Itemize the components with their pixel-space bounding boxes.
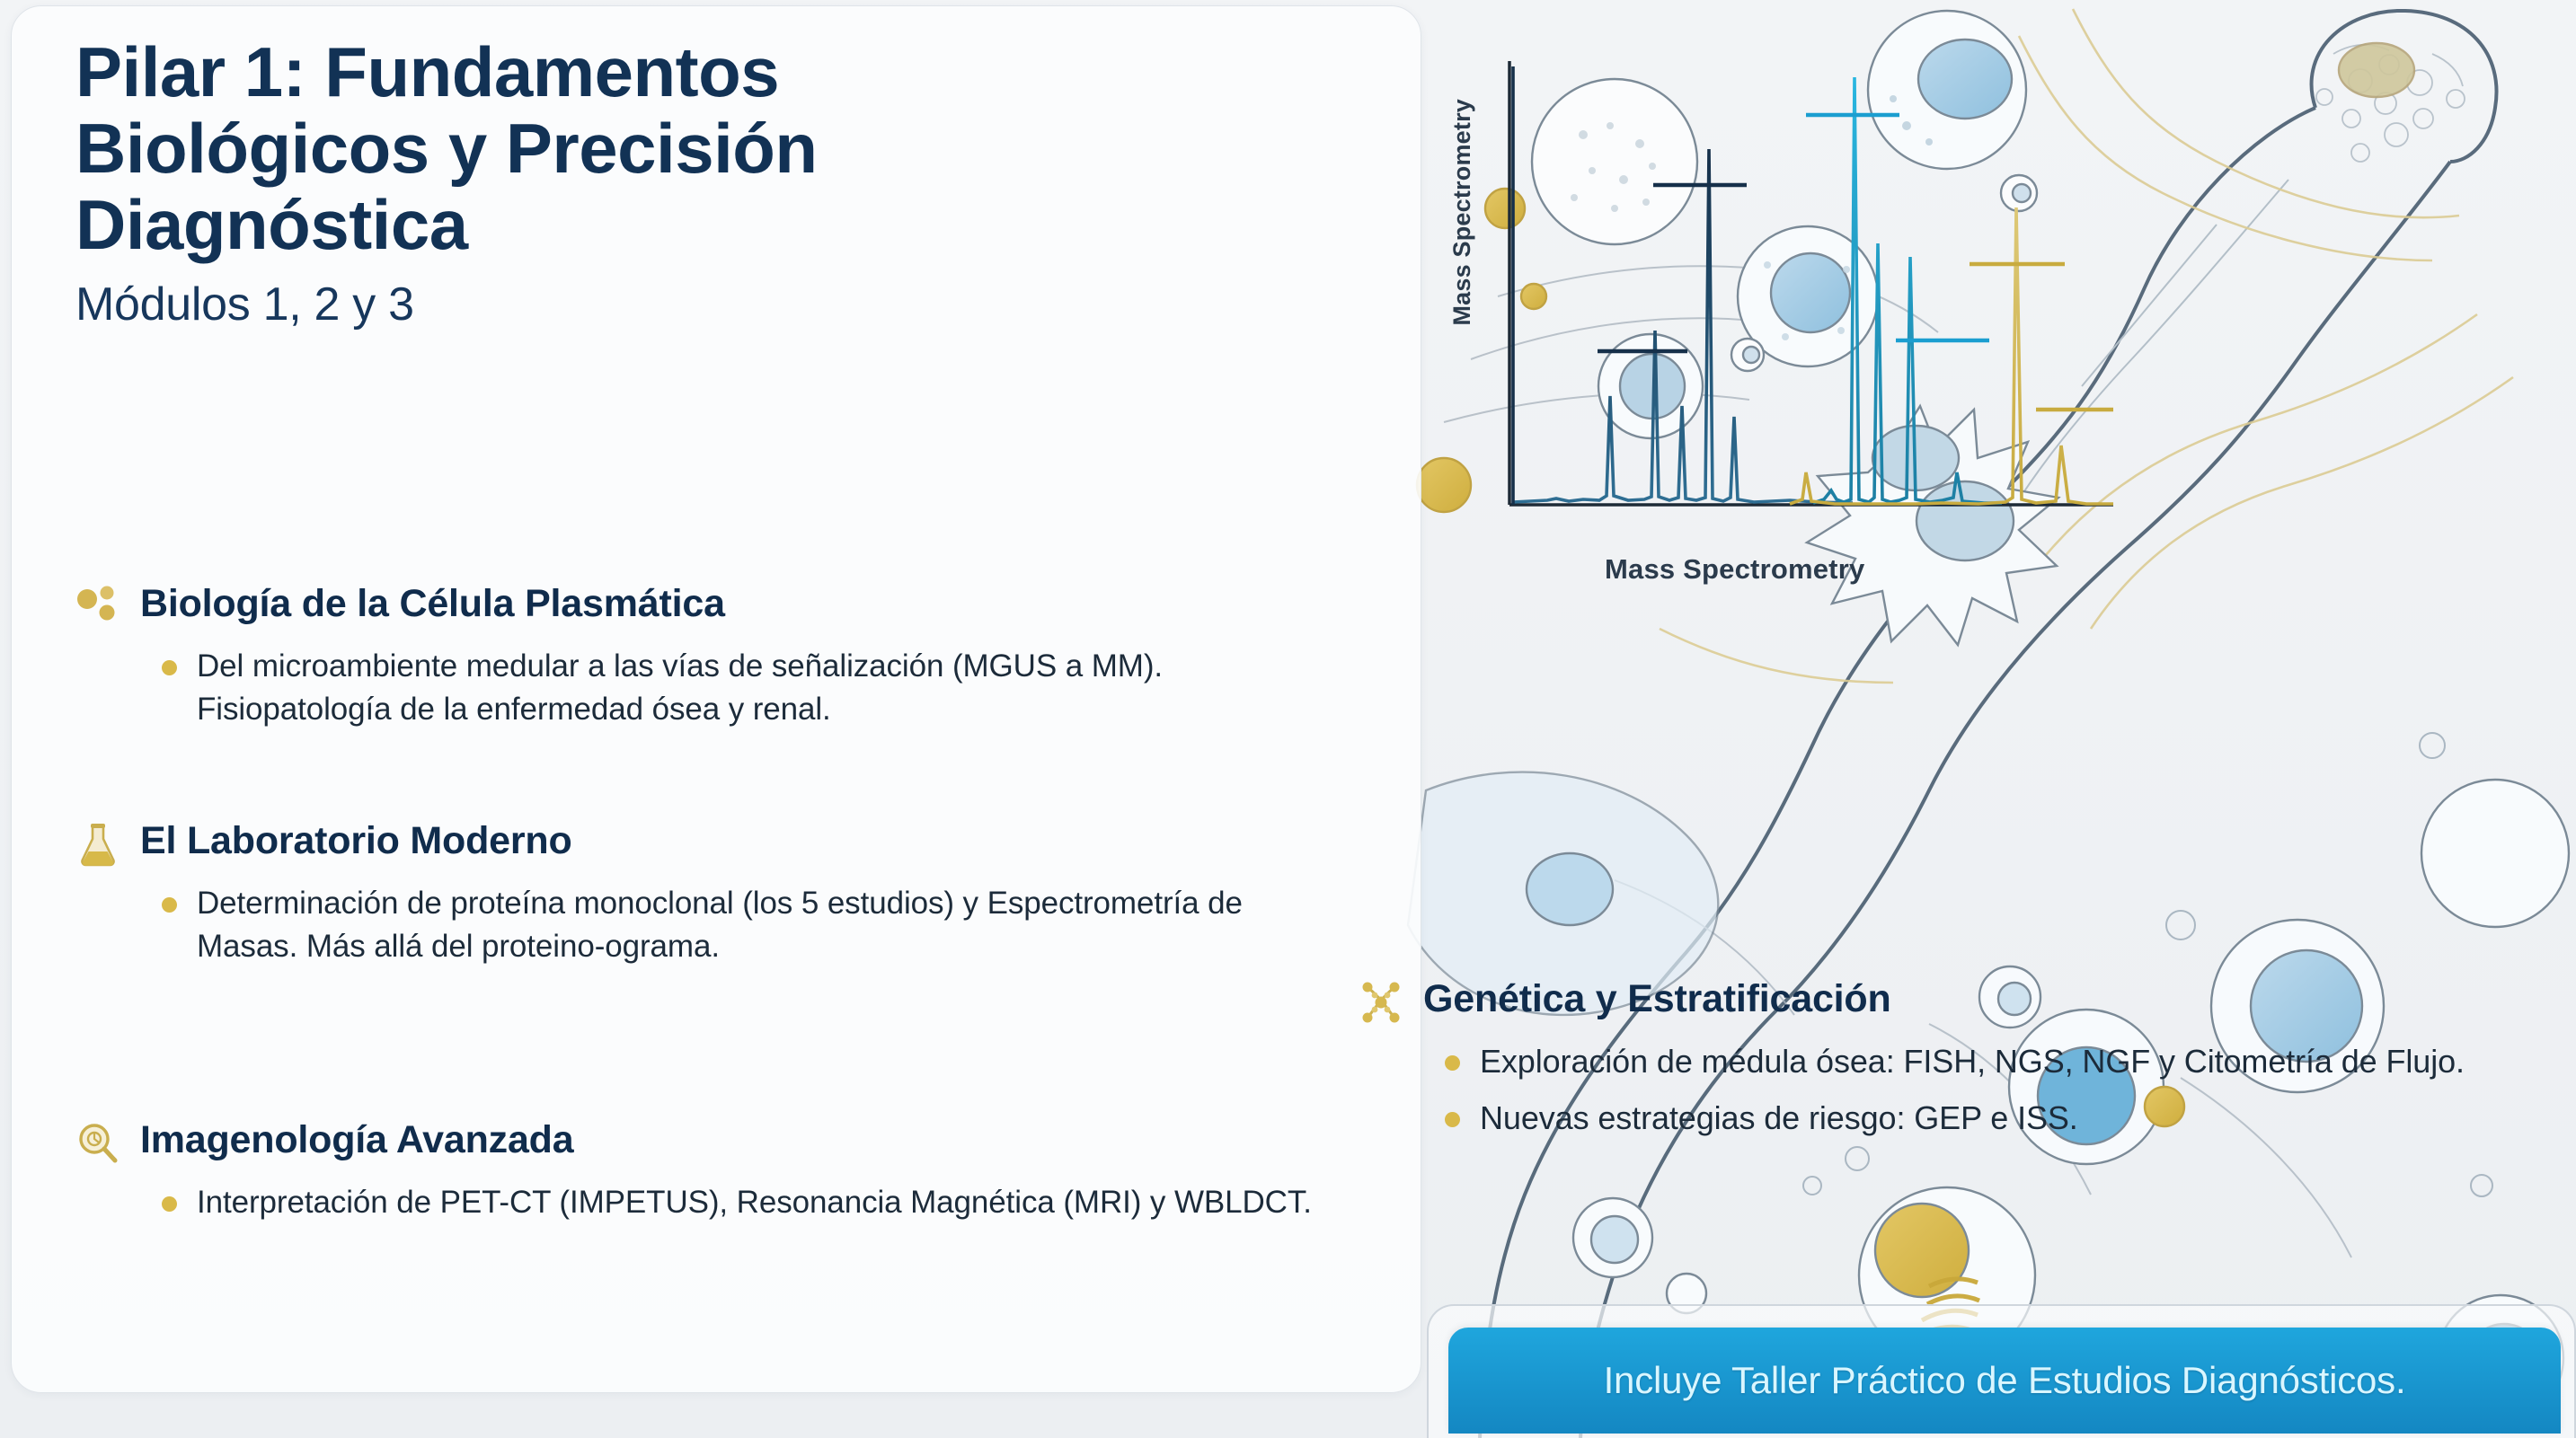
- dna-chromosome-icon: [1359, 979, 1403, 1026]
- flask-icon: [75, 821, 120, 868]
- molecule-dots-icon: [75, 584, 120, 631]
- section-title: Biología de la Célula Plasmática: [140, 582, 725, 625]
- section-header: Biología de la Célula Plasmática: [75, 582, 1351, 631]
- section-title: Genética y Estratificación: [1423, 977, 1891, 1020]
- section-bullets: Interpretación de PET-CT (IMPETUS), Reso…: [75, 1181, 1351, 1224]
- chart-x-axis-label: Mass Spectrometry: [1605, 553, 1864, 586]
- list-item: Exploración de médula ósea: FISH, NGS, N…: [1445, 1040, 2536, 1084]
- slide-root: Pilar 1: Fundamentos Biológicos y Precis…: [0, 0, 2576, 1438]
- banner-text: Incluye Taller Práctico de Estudios Diag…: [1604, 1359, 2406, 1402]
- list-item: Determinación de proteína monoclonal (lo…: [162, 882, 1351, 967]
- section-header: Genética y Estratificación: [1359, 977, 2536, 1026]
- bullet-dot-icon: [162, 1196, 177, 1212]
- magnifier-icon: [75, 1120, 120, 1167]
- list-item: Nuevas estrategias de riesgo: GEP e ISS.: [1445, 1097, 2536, 1141]
- section-header: Imagenología Avanzada: [75, 1118, 1351, 1167]
- section-title: El Laboratorio Moderno: [140, 819, 572, 862]
- section-header: El Laboratorio Moderno: [75, 819, 1351, 868]
- section-biologia-celula-plasmatica: Biología de la Célula Plasmática Del mic…: [75, 582, 1351, 743]
- section-bullets: Determinación de proteína monoclonal (lo…: [75, 882, 1351, 967]
- section-laboratorio-moderno: El Laboratorio Moderno Determinación de …: [75, 819, 1351, 980]
- section-imagenologia-avanzada: Imagenología Avanzada Interpretación de …: [75, 1118, 1351, 1237]
- mass-spectrometry-chart: Mass Spectrometry: [1443, 36, 2162, 620]
- gold-spectrum-trace: [1790, 207, 2113, 504]
- title-block: Pilar 1: Fundamentos Biológicos y Precis…: [75, 34, 1244, 331]
- list-item: Interpretación de PET-CT (IMPETUS), Reso…: [162, 1181, 1351, 1224]
- cyan-spectrum-trace: [1813, 77, 2002, 503]
- spectrum-plot: [1493, 50, 2122, 553]
- page-subtitle: Módulos 1, 2 y 3: [75, 278, 1244, 331]
- section-bullets: Exploración de médula ósea: FISH, NGS, N…: [1359, 1040, 2536, 1141]
- bullet-text: Determinación de proteína monoclonal (lo…: [197, 882, 1351, 967]
- bullet-text: Del microambiente medular a las vías de …: [197, 645, 1351, 730]
- section-title: Imagenología Avanzada: [140, 1118, 573, 1161]
- section-genetica-estratificacion: Genética y Estratificación Exploración d…: [1359, 977, 2536, 1153]
- bullet-text: Exploración de médula ósea: FISH, NGS, N…: [1480, 1040, 2465, 1084]
- bullet-dot-icon: [1445, 1112, 1460, 1127]
- bullet-text: Interpretación de PET-CT (IMPETUS), Reso…: [197, 1181, 1312, 1224]
- workshop-banner[interactable]: Incluye Taller Práctico de Estudios Diag…: [1448, 1328, 2561, 1434]
- section-bullets: Del microambiente medular a las vías de …: [75, 645, 1351, 730]
- list-item: Del microambiente medular a las vías de …: [162, 645, 1351, 730]
- bullet-text: Nuevas estrategias de riesgo: GEP e ISS.: [1480, 1097, 2078, 1141]
- page-title-line-3: Diagnóstica: [75, 187, 1244, 263]
- bullet-dot-icon: [162, 660, 177, 675]
- bullet-dot-icon: [162, 897, 177, 913]
- navy-spectrum-trace: [1513, 149, 1853, 503]
- page-title-line-2: Biológicos y Precisión: [75, 110, 1244, 187]
- chart-y-axis-label: Mass Spectrometry: [1448, 99, 1476, 326]
- page-title-line-1: Pilar 1: Fundamentos: [75, 34, 1244, 110]
- bullet-dot-icon: [1445, 1055, 1460, 1071]
